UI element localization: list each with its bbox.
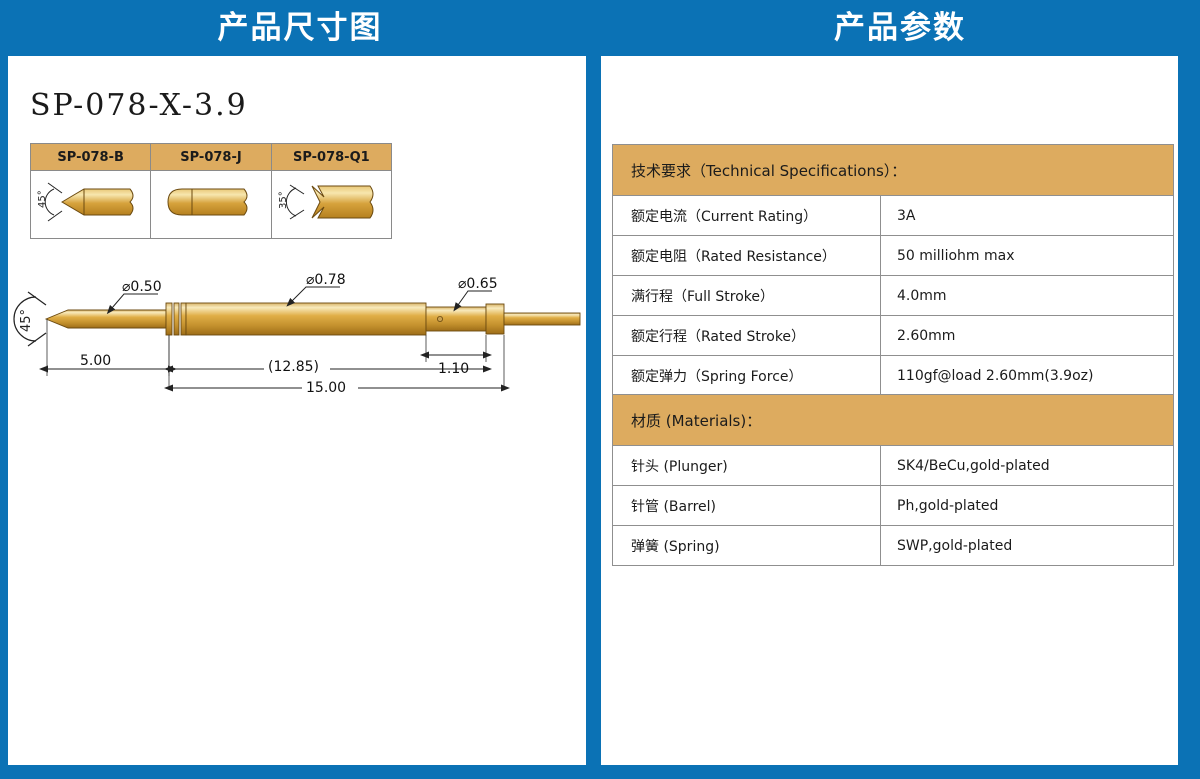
materials-section-title: 材质 (Materials)：: [613, 395, 1174, 446]
spec-key: 额定行程（Rated Stroke）: [613, 316, 881, 356]
table-row: 针管 (Barrel) Ph,gold-plated: [613, 486, 1174, 526]
diameter-barrel-label: ⌀0.78: [306, 272, 346, 288]
variant-figure-row: 45°: [31, 171, 392, 239]
variant-figure-j: [151, 171, 271, 239]
dome-tip-icon: [152, 171, 270, 233]
spec-key: 满行程（Full Stroke）: [613, 276, 881, 316]
tip-angle-label: 45°: [19, 309, 34, 332]
variant-label-b: SP-078-B: [31, 144, 151, 171]
technical-specifications-table: 技术要求（Technical Specifications）： 额定电流（Cur…: [612, 144, 1174, 396]
spec-key: 额定弹力（Spring Force）: [613, 356, 881, 396]
diameter-tail-label: ⌀0.65: [458, 276, 498, 292]
material-key: 针头 (Plunger): [613, 446, 881, 486]
spec-value: 2.60mm: [881, 316, 1174, 356]
material-value: Ph,gold-plated: [881, 486, 1174, 526]
table-section-header: 材质 (Materials)：: [613, 395, 1174, 446]
variant-label-j: SP-078-J: [151, 144, 271, 171]
page-title-left: 产品尺寸图: [0, 8, 600, 48]
table-section-header: 技术要求（Technical Specifications）：: [613, 145, 1174, 196]
material-key: 针管 (Barrel): [613, 486, 881, 526]
variant-figure-q1: 35°: [271, 171, 391, 239]
spec-value: 50 milliohm max: [881, 236, 1174, 276]
variant-label-q1: SP-078-Q1: [271, 144, 391, 171]
spec-key: 额定电流（Current Rating）: [613, 196, 881, 236]
table-row: 额定电流（Current Rating） 3A: [613, 196, 1174, 236]
material-value: SK4/BeCu,gold-plated: [881, 446, 1174, 486]
table-row: 弹簧 (Spring) SWP,gold-plated: [613, 526, 1174, 566]
spec-key: 额定电阻（Rated Resistance）: [613, 236, 881, 276]
table-row: 额定行程（Rated Stroke） 2.60mm: [613, 316, 1174, 356]
dim-tip-length: 5.00: [80, 353, 111, 369]
material-value: SWP,gold-plated: [881, 526, 1174, 566]
table-row: 满行程（Full Stroke） 4.0mm: [613, 276, 1174, 316]
variant-angle-q1: 35°: [278, 191, 289, 209]
spec-value: 3A: [881, 196, 1174, 236]
material-key: 弹簧 (Spring): [613, 526, 881, 566]
table-row: 针头 (Plunger) SK4/BeCu,gold-plated: [613, 446, 1174, 486]
crown-tip-icon: 35°: [272, 171, 390, 233]
variant-figure-b: 45°: [31, 171, 151, 239]
table-row: 额定电阻（Rated Resistance） 50 milliohm max: [613, 236, 1174, 276]
dim-collar-length: 1.10: [438, 361, 469, 377]
cone-tip-icon: 45°: [32, 171, 150, 233]
dimension-drawing: 45°: [6, 272, 586, 407]
spec-value: 110gf@load 2.60mm(3.9oz): [881, 356, 1174, 396]
materials-table: 材质 (Materials)： 针头 (Plunger) SK4/BeCu,go…: [612, 394, 1174, 566]
technical-section-title: 技术要求（Technical Specifications）：: [613, 145, 1174, 196]
diameter-plunger-label: ⌀0.50: [122, 279, 162, 295]
page-title: SP-078-X-3.9: [30, 88, 248, 123]
dim-barrel-length: (12.85): [268, 359, 319, 375]
variant-table: SP-078-B SP-078-J SP-078-Q1: [30, 143, 392, 239]
page-title-right: 产品参数: [600, 8, 1200, 48]
table-row: 额定弹力（Spring Force） 110gf@load 2.60mm(3.9…: [613, 356, 1174, 396]
variant-angle-b: 45°: [37, 190, 48, 208]
dim-total-length: 15.00: [306, 380, 346, 396]
variant-header-row: SP-078-B SP-078-J SP-078-Q1: [31, 144, 392, 171]
spec-value: 4.0mm: [881, 276, 1174, 316]
